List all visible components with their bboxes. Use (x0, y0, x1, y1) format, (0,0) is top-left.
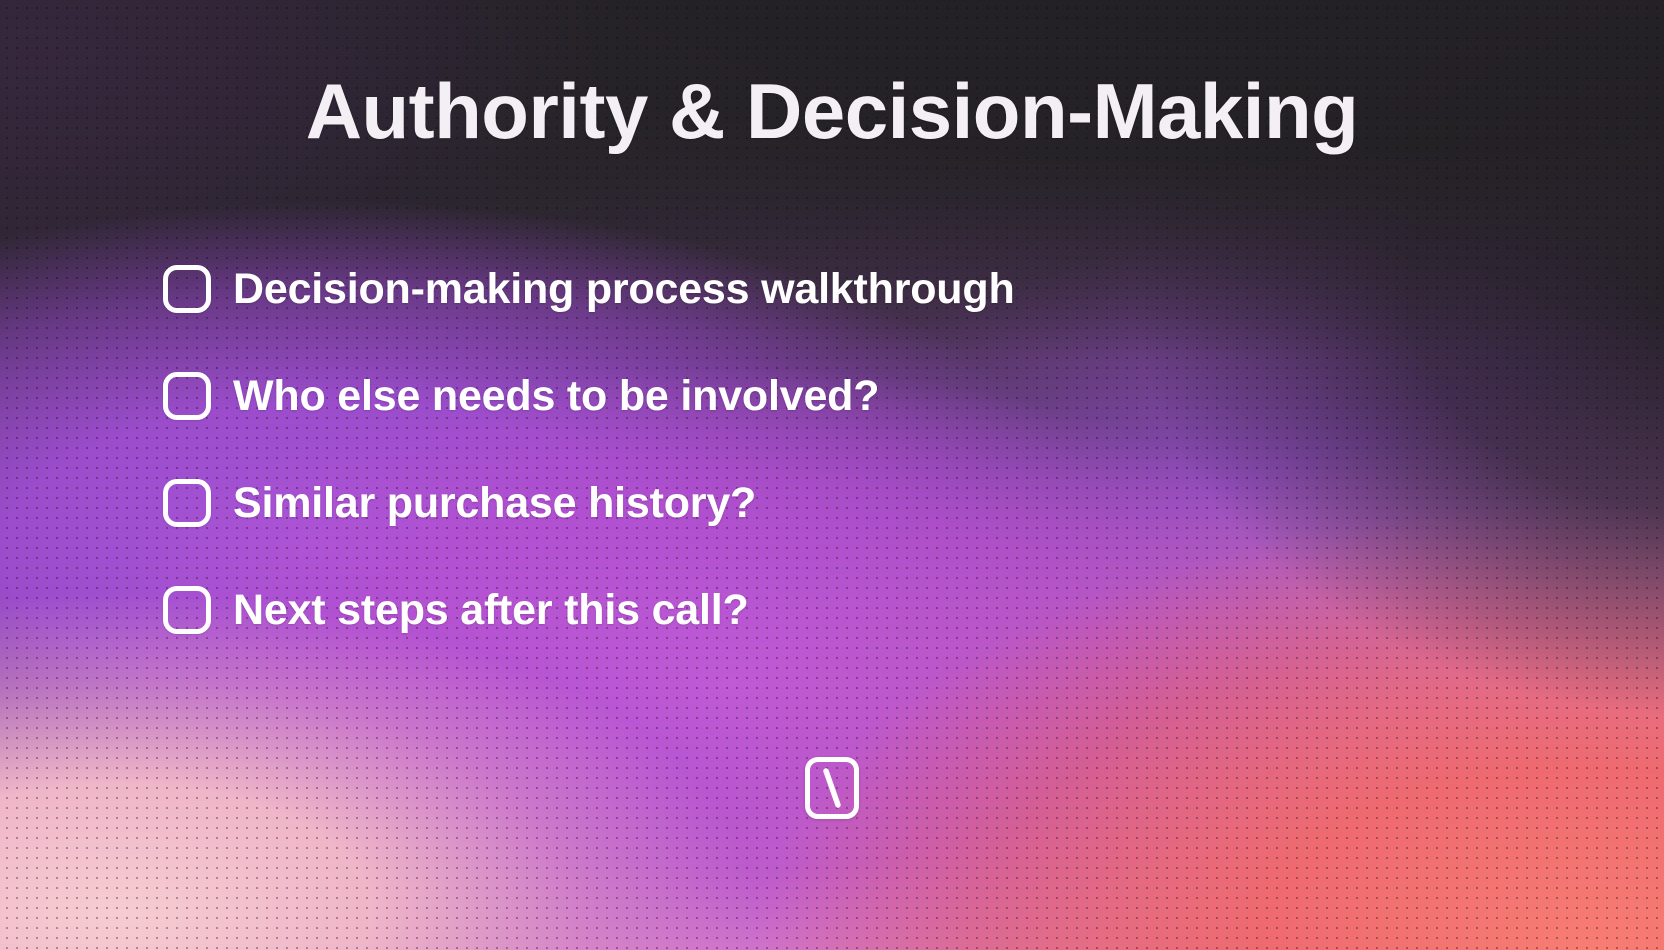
slide-title: Authority & Decision-Making (0, 72, 1664, 150)
checkbox-empty-icon[interactable] (163, 586, 211, 634)
checklist-item-label: Decision-making process walkthrough (233, 266, 1015, 312)
presentation-slide: Authority & Decision-Making Decision-mak… (0, 0, 1664, 950)
checklist-item-label: Similar purchase history? (233, 480, 756, 526)
checkbox-empty-icon[interactable] (163, 265, 211, 313)
checklist-item-label: Who else needs to be involved? (233, 373, 879, 419)
rounded-square-slash-logo-icon (805, 757, 859, 819)
checklist-item-label: Next steps after this call? (233, 587, 749, 633)
checklist-item[interactable]: Decision-making process walkthrough (163, 265, 1015, 313)
checklist-item[interactable]: Similar purchase history? (163, 479, 1015, 527)
checkbox-empty-icon[interactable] (163, 479, 211, 527)
slide-content: Authority & Decision-Making Decision-mak… (0, 0, 1664, 950)
checklist-item[interactable]: Who else needs to be involved? (163, 372, 1015, 420)
checklist: Decision-making process walkthrough Who … (163, 265, 1015, 634)
checkbox-empty-icon[interactable] (163, 372, 211, 420)
checklist-item[interactable]: Next steps after this call? (163, 586, 1015, 634)
